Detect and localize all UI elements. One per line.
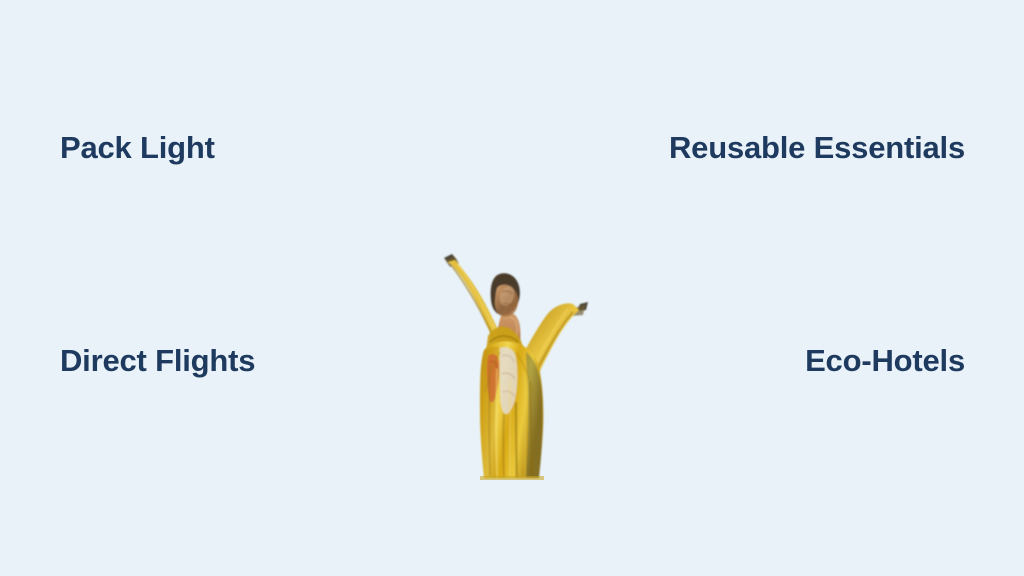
center-photo-figure [440,252,592,480]
label-reusable-essentials: Reusable Essentials [669,130,965,166]
label-direct-flights: Direct Flights [60,343,255,379]
person-arms-raised-icon [440,252,592,480]
slide-canvas: Pack Light Reusable Essentials Direct Fl… [0,0,1024,576]
label-eco-hotels: Eco-Hotels [805,343,965,379]
label-pack-light: Pack Light [60,130,215,166]
